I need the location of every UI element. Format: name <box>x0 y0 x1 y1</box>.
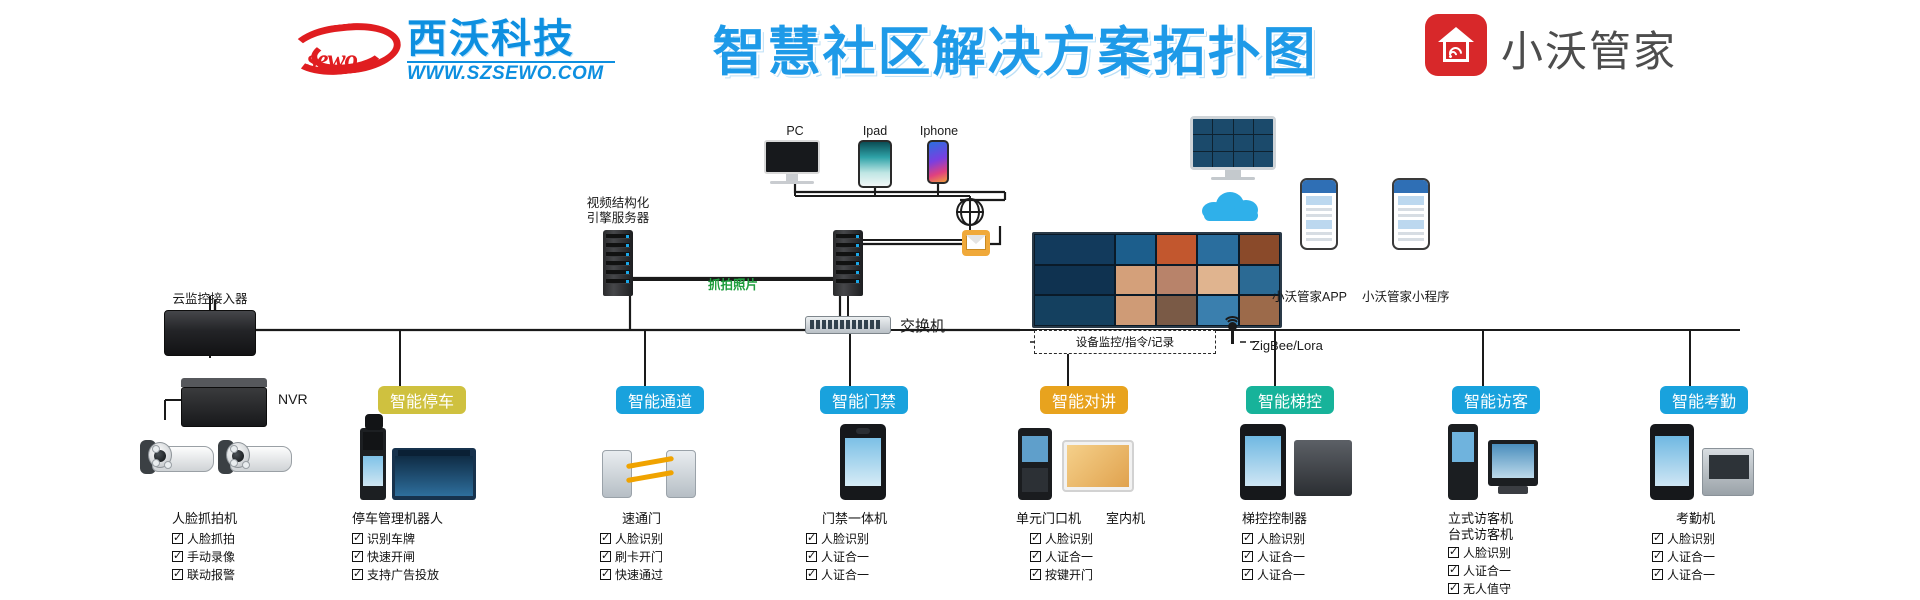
elevator-controller-box-icon <box>1294 440 1352 496</box>
nvr-label: NVR <box>278 392 308 407</box>
module-badge-visitor[interactable]: 智能访客 <box>1452 386 1540 414</box>
mail-icon <box>962 230 990 256</box>
module-feature-access-2: 人证合一 <box>806 548 869 566</box>
parking-kiosk-icon <box>360 428 386 500</box>
app-phone-mockup <box>1300 178 1338 250</box>
tablet-icon <box>858 140 892 188</box>
zigbee-lora-label: ZigBee/Lora <box>1252 338 1323 353</box>
module-caption-visitor-2: 台式访客机 <box>1448 524 1513 543</box>
module-feature-channel-3: 快速通过 <box>600 566 663 584</box>
app-phone-label: 小沃管家APP <box>1272 290 1347 305</box>
house-wifi-icon <box>1425 14 1487 76</box>
camera-feature-2: 手动录像 <box>172 548 235 566</box>
check-icon <box>1242 533 1253 544</box>
indoor-monitor-icon <box>1062 440 1134 496</box>
app-name-label: 小沃管家 <box>1501 18 1677 79</box>
check-icon <box>600 569 611 580</box>
operator-monitor-icon <box>1190 116 1276 180</box>
device-bus-box: 设备监控/指令/记录 <box>1034 330 1216 354</box>
parking-display-icon <box>392 448 476 500</box>
check-icon <box>806 533 817 544</box>
elevator-terminal-icon <box>1240 424 1286 500</box>
device-bus-label: 设备监控/指令/记录 <box>1076 334 1174 350</box>
module-badge-channel[interactable]: 智能通道 <box>616 386 704 414</box>
module-caption-intercom-2: 室内机 <box>1106 508 1145 527</box>
module-feature-channel-2: 刷卡开门 <box>600 548 663 566</box>
speed-gate-icon <box>600 440 700 500</box>
module-caption-channel: 速通门 <box>622 508 661 527</box>
module-caption-attendance: 考勤机 <box>1676 508 1715 527</box>
face-capture-camera-icon-2 <box>218 440 296 478</box>
module-feature-intercom-1: 人脸识别 <box>1030 530 1093 548</box>
desktop-visitor-terminal-icon <box>1488 440 1546 498</box>
server-label-line2: 引擎服务器 <box>562 211 674 226</box>
server-label-line1: 视频结构化 <box>562 196 674 211</box>
check-icon <box>1242 551 1253 562</box>
check-icon <box>806 569 817 580</box>
check-icon <box>1652 569 1663 580</box>
door-station-icon <box>1018 428 1052 500</box>
module-caption-elevator: 梯控控制器 <box>1242 508 1307 527</box>
check-icon <box>600 551 611 562</box>
desktop-monitor-icon <box>764 140 820 184</box>
check-icon <box>1030 569 1041 580</box>
check-icon <box>352 551 363 562</box>
snapshot-link-label: 抓拍照片 <box>708 278 758 293</box>
company-logo: sewo 西沃科技 WWW.SZSEWO.COM <box>285 16 615 84</box>
module-feature-intercom-2: 人证合一 <box>1030 548 1093 566</box>
video-engine-server-icon <box>603 230 633 296</box>
client-label-ipad: Ipad <box>852 124 898 139</box>
check-icon <box>172 533 183 544</box>
company-name-cn: 西沃科技 <box>407 16 575 62</box>
cloud-access-device-icon <box>164 310 256 356</box>
miniprogram-label: 小沃管家小程序 <box>1362 290 1450 305</box>
module-feature-visitor-2: 人证合一 <box>1448 562 1511 580</box>
page-header: sewo 西沃科技 WWW.SZSEWO.COM 智慧社区解决方案拓扑图 小沃管… <box>0 0 1920 96</box>
check-icon <box>1030 551 1041 562</box>
app-logo: 小沃管家 <box>1425 14 1775 80</box>
module-feature-parking-1: 识别车牌 <box>352 530 415 548</box>
module-feature-parking-2: 快速开闸 <box>352 548 415 566</box>
page-title: 智慧社区解决方案拓扑图 <box>650 10 1380 86</box>
module-feature-access-1: 人脸识别 <box>806 530 869 548</box>
module-badge-elevator[interactable]: 智能梯控 <box>1246 386 1334 414</box>
module-feature-elevator-1: 人脸识别 <box>1242 530 1305 548</box>
sewo-wordmark: sewo <box>307 44 357 75</box>
check-icon <box>1448 547 1459 558</box>
module-feature-channel-1: 人脸识别 <box>600 530 663 548</box>
application-server-icon <box>833 230 863 296</box>
module-feature-intercom-3: 按键开门 <box>1030 566 1093 584</box>
module-caption-intercom: 单元门口机 <box>1016 508 1081 527</box>
face-capture-camera-icon-1 <box>140 440 218 478</box>
check-icon <box>1448 583 1459 594</box>
miniprogram-phone-mockup <box>1392 178 1430 250</box>
check-icon <box>352 533 363 544</box>
cloud-icon <box>1202 190 1260 220</box>
module-feature-access-3: 人证合一 <box>806 566 869 584</box>
check-icon <box>600 533 611 544</box>
camera-feature-1: 人脸抓拍 <box>172 530 235 548</box>
module-badge-parking[interactable]: 智能停车 <box>378 386 466 414</box>
company-website: WWW.SZSEWO.COM <box>407 63 604 85</box>
access-terminal-icon <box>840 424 886 500</box>
nvr-icon <box>181 378 267 427</box>
standing-visitor-kiosk-icon <box>1448 424 1478 500</box>
client-label-pc: PC <box>770 124 820 139</box>
attendance-terminal-icon <box>1650 424 1694 500</box>
module-feature-visitor-3: 无人值守 <box>1448 580 1511 598</box>
internet-globe-icon <box>956 198 984 226</box>
switch-label: 交换机 <box>900 319 945 334</box>
check-icon <box>1030 533 1041 544</box>
check-icon <box>1652 533 1663 544</box>
module-caption-parking: 停车管理机器人 <box>352 508 443 527</box>
check-icon <box>1242 569 1253 580</box>
wireless-antenna-icon <box>1222 318 1242 344</box>
check-icon <box>172 551 183 562</box>
check-icon <box>806 551 817 562</box>
video-wall-display <box>1032 232 1282 328</box>
check-icon <box>1448 565 1459 576</box>
cloud-access-label: 云监控接入器 <box>150 292 270 307</box>
attendance-reader-icon <box>1702 448 1754 496</box>
module-feature-attendance-3: 人证合一 <box>1652 566 1715 584</box>
module-badge-attendance[interactable]: 智能考勤 <box>1660 386 1748 414</box>
check-icon <box>172 569 183 580</box>
camera-feature-3: 联动报警 <box>172 566 235 584</box>
module-caption-access: 门禁一体机 <box>822 508 887 527</box>
module-feature-attendance-2: 人证合一 <box>1652 548 1715 566</box>
check-icon <box>1652 551 1663 562</box>
module-feature-parking-3: 支持广告投放 <box>352 566 439 584</box>
module-feature-visitor-1: 人脸识别 <box>1448 544 1511 562</box>
module-feature-attendance-1: 人脸识别 <box>1652 530 1715 548</box>
module-badge-intercom[interactable]: 智能对讲 <box>1040 386 1128 414</box>
network-switch-icon <box>805 316 891 334</box>
module-feature-elevator-2: 人证合一 <box>1242 548 1305 566</box>
camera-group-caption: 人脸抓拍机 <box>172 508 237 527</box>
module-badge-access[interactable]: 智能门禁 <box>820 386 908 414</box>
client-label-iphone: Iphone <box>910 124 968 139</box>
module-feature-elevator-3: 人证合一 <box>1242 566 1305 584</box>
sewo-swash-icon: sewo <box>285 22 405 78</box>
check-icon <box>352 569 363 580</box>
smartphone-icon <box>927 140 949 184</box>
